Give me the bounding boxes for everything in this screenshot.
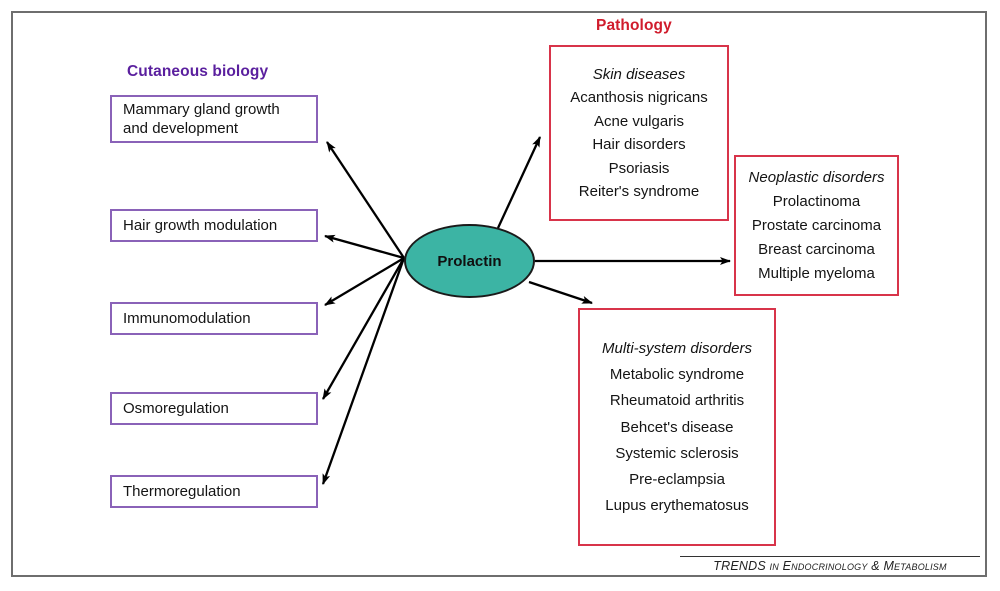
cutaneous-biology-header: Cutaneous biology [127,63,268,81]
function-box-osmoregulation[interactable]: Osmoregulation [110,392,318,425]
pathology-item: Prolactinoma [773,193,861,210]
function-box-label: Hair growth modulation [123,216,277,235]
pathology-item: Acne vulgaris [594,113,684,130]
pathology-item: Reiter's syndrome [579,183,699,200]
pathology-item: Lupus erythematosus [605,497,748,514]
pathology-category-label: Neoplastic disorders [749,169,885,186]
function-box-line-1: Mammary gland growth [123,100,280,119]
pathology-item: Breast carcinoma [758,241,875,258]
function-box-label: Osmoregulation [123,399,229,418]
pathology-item: Systemic sclerosis [615,445,738,462]
pathology-category-label: Multi-system disorders [602,340,752,357]
pathology-item: Multiple myeloma [758,265,875,282]
function-box-line-2: and development [123,119,280,138]
prolactin-node-label: Prolactin [437,253,501,270]
function-box-hair-growth[interactable]: Hair growth modulation [110,209,318,242]
pathology-box-skin-diseases[interactable]: Skin diseases Acanthosis nigricans Acne … [549,45,729,221]
function-box-immunomodulation[interactable]: Immunomodulation [110,302,318,335]
prolactin-node[interactable]: Prolactin [404,224,535,298]
pathology-item: Pre-eclampsia [629,471,725,488]
journal-footer: TRENDS in Endocrinology & Metabolism [680,556,980,573]
pathology-item: Acanthosis nigricans [570,89,708,106]
pathology-item: Psoriasis [609,160,670,177]
pathology-header: Pathology [596,17,672,35]
function-box-mammary-gland[interactable]: Mammary gland growth and development [110,95,318,143]
function-box-label: Mammary gland growth and development [123,100,280,138]
pathology-item: Rheumatoid arthritis [610,392,744,409]
pathology-item: Prostate carcinoma [752,217,881,234]
figure-canvas: Cutaneous biology Pathology Mammary glan… [0,0,1000,591]
pathology-item: Metabolic syndrome [610,366,744,383]
journal-footer-text: TRENDS in Endocrinology & Metabolism [713,559,946,573]
function-box-thermoregulation[interactable]: Thermoregulation [110,475,318,508]
pathology-box-neoplastic-disorders[interactable]: Neoplastic disorders Prolactinoma Prosta… [734,155,899,296]
pathology-category-label: Skin diseases [593,66,686,83]
function-box-label: Immunomodulation [123,309,251,328]
function-box-label: Thermoregulation [123,482,241,501]
pathology-item: Hair disorders [592,136,685,153]
pathology-box-multi-system-disorders[interactable]: Multi-system disorders Metabolic syndrom… [578,308,776,546]
pathology-item: Behcet's disease [621,419,734,436]
